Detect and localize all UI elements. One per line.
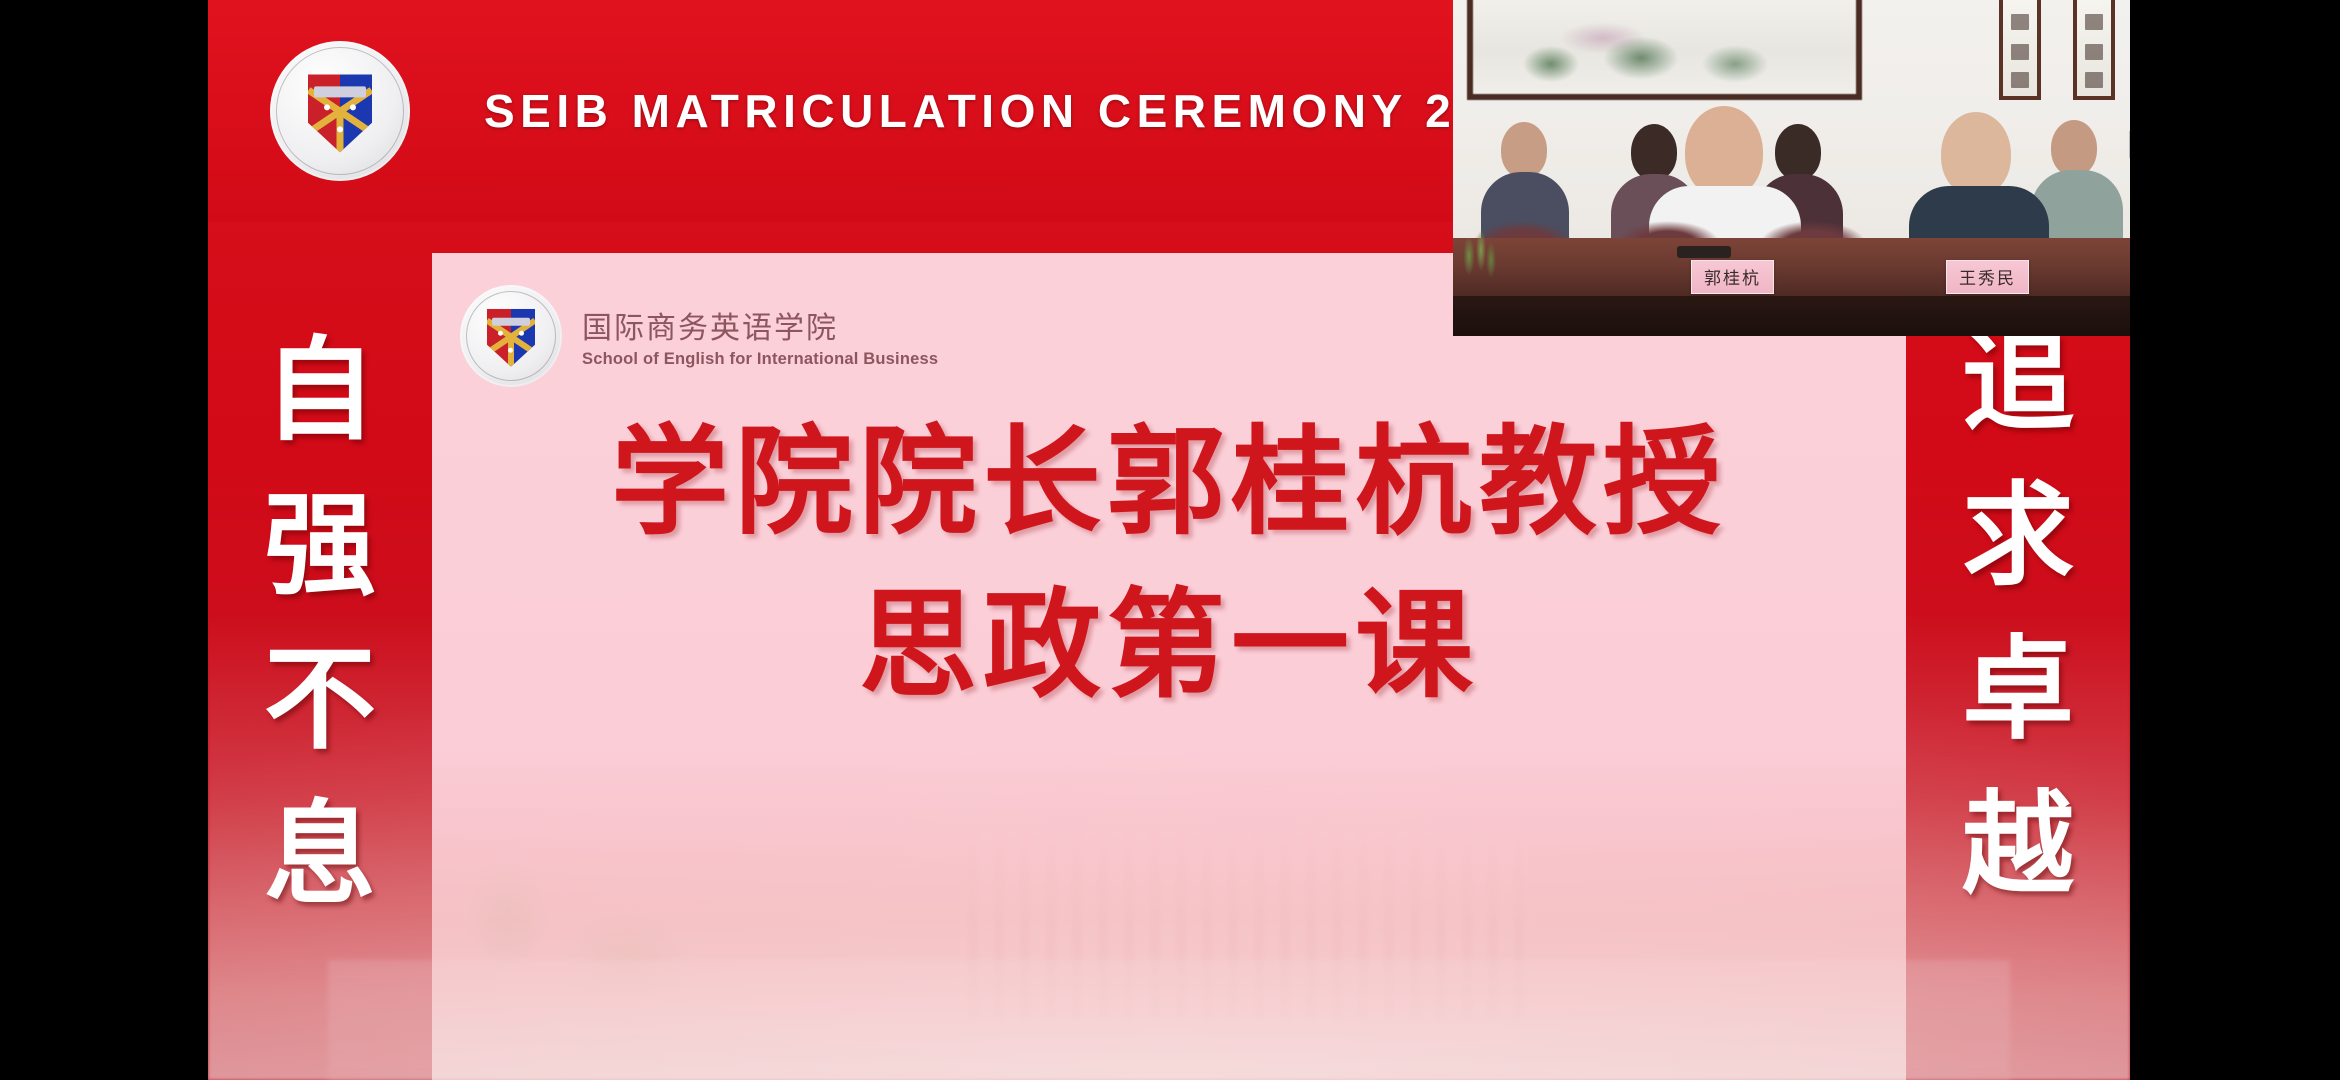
crest-dot-right xyxy=(350,104,356,110)
school-name-cn: 国际商务英语学院 xyxy=(582,303,938,347)
crest-banner xyxy=(492,318,530,326)
school-crest-icon xyxy=(270,41,410,181)
slogan-right-char-3: 卓 xyxy=(1962,613,2074,768)
letterbox-right xyxy=(2130,0,2340,1080)
conference-chairs xyxy=(1453,192,2131,244)
school-brand-text: 国际商务英语学院 School of English for Internati… xyxy=(582,303,938,369)
crest-dot-right xyxy=(519,331,524,336)
slogan-left-char-2: 强 xyxy=(264,469,376,624)
slogan-left-char-4: 息 xyxy=(264,778,376,933)
attendee-head xyxy=(1775,124,1821,180)
slogan-left-char-1: 自 xyxy=(264,314,376,469)
stream-viewport: SEIB MATRICULATION CEREMONY 2021 自 强 不 息… xyxy=(0,0,2340,1080)
slogan-banner-right: 追 求 卓 越 xyxy=(1906,222,2130,1080)
calligraphy-scroll-right xyxy=(2073,0,2115,100)
speaker-head-right xyxy=(1941,112,2011,196)
name-plate-speaker-left: 郭桂杭 xyxy=(1691,260,1774,294)
headline-line-1: 学院院长郭桂杭教授 xyxy=(432,401,1906,564)
speaker-head-left xyxy=(1685,106,1763,198)
slogan-banner-left: 自 强 不 息 xyxy=(208,222,432,1080)
calligraphy-scroll-left xyxy=(1999,0,2041,100)
slide-header-band: SEIB MATRICULATION CEREMONY 2021 xyxy=(208,0,1456,222)
crest-dot-bottom xyxy=(337,126,343,132)
live-camera-overlay[interactable]: 郭桂杭 王秀民 xyxy=(1453,0,2131,336)
slide-headline: 学院院长郭桂杭教授 思政第一课 xyxy=(432,401,1906,727)
page-title: SEIB MATRICULATION CEREMONY 2021 xyxy=(484,84,1549,138)
scroll-glyph xyxy=(2011,14,2029,30)
slide-content-panel: 国际商务英语学院 School of English for Internati… xyxy=(432,253,1906,1080)
conference-table-edge xyxy=(1453,296,2131,336)
crest-dot-bottom xyxy=(508,348,513,353)
conference-table xyxy=(1453,238,2131,300)
scroll-glyph xyxy=(2085,44,2103,60)
scroll-glyph xyxy=(2085,14,2103,30)
scroll-glyph xyxy=(2085,72,2103,88)
crest-banner xyxy=(314,87,366,98)
crest-dot-left xyxy=(498,331,503,336)
table-microphone xyxy=(1677,246,1731,258)
school-crest-icon xyxy=(460,285,562,387)
attendee-head xyxy=(2051,120,2097,176)
slogan-left-char-3: 不 xyxy=(264,623,376,778)
slogan-right-char-4: 越 xyxy=(1962,768,2074,923)
attendee-head xyxy=(1631,124,1677,180)
school-name-en: School of English for International Busi… xyxy=(582,350,938,369)
name-plate-speaker-right: 王秀民 xyxy=(1946,260,2029,294)
potted-plant xyxy=(1457,226,1501,290)
crest-dot-left xyxy=(324,104,330,110)
scroll-glyph xyxy=(2011,72,2029,88)
school-brand-lockup: 国际商务英语学院 School of English for Internati… xyxy=(460,285,938,387)
landscape-painting xyxy=(1467,0,1862,100)
slogan-right-char-2: 求 xyxy=(1962,459,2074,614)
letterbox-left xyxy=(0,0,208,1080)
scroll-glyph xyxy=(2011,44,2029,60)
attendee-head xyxy=(1501,122,1547,178)
headline-line-2: 思政第一课 xyxy=(432,564,1906,727)
